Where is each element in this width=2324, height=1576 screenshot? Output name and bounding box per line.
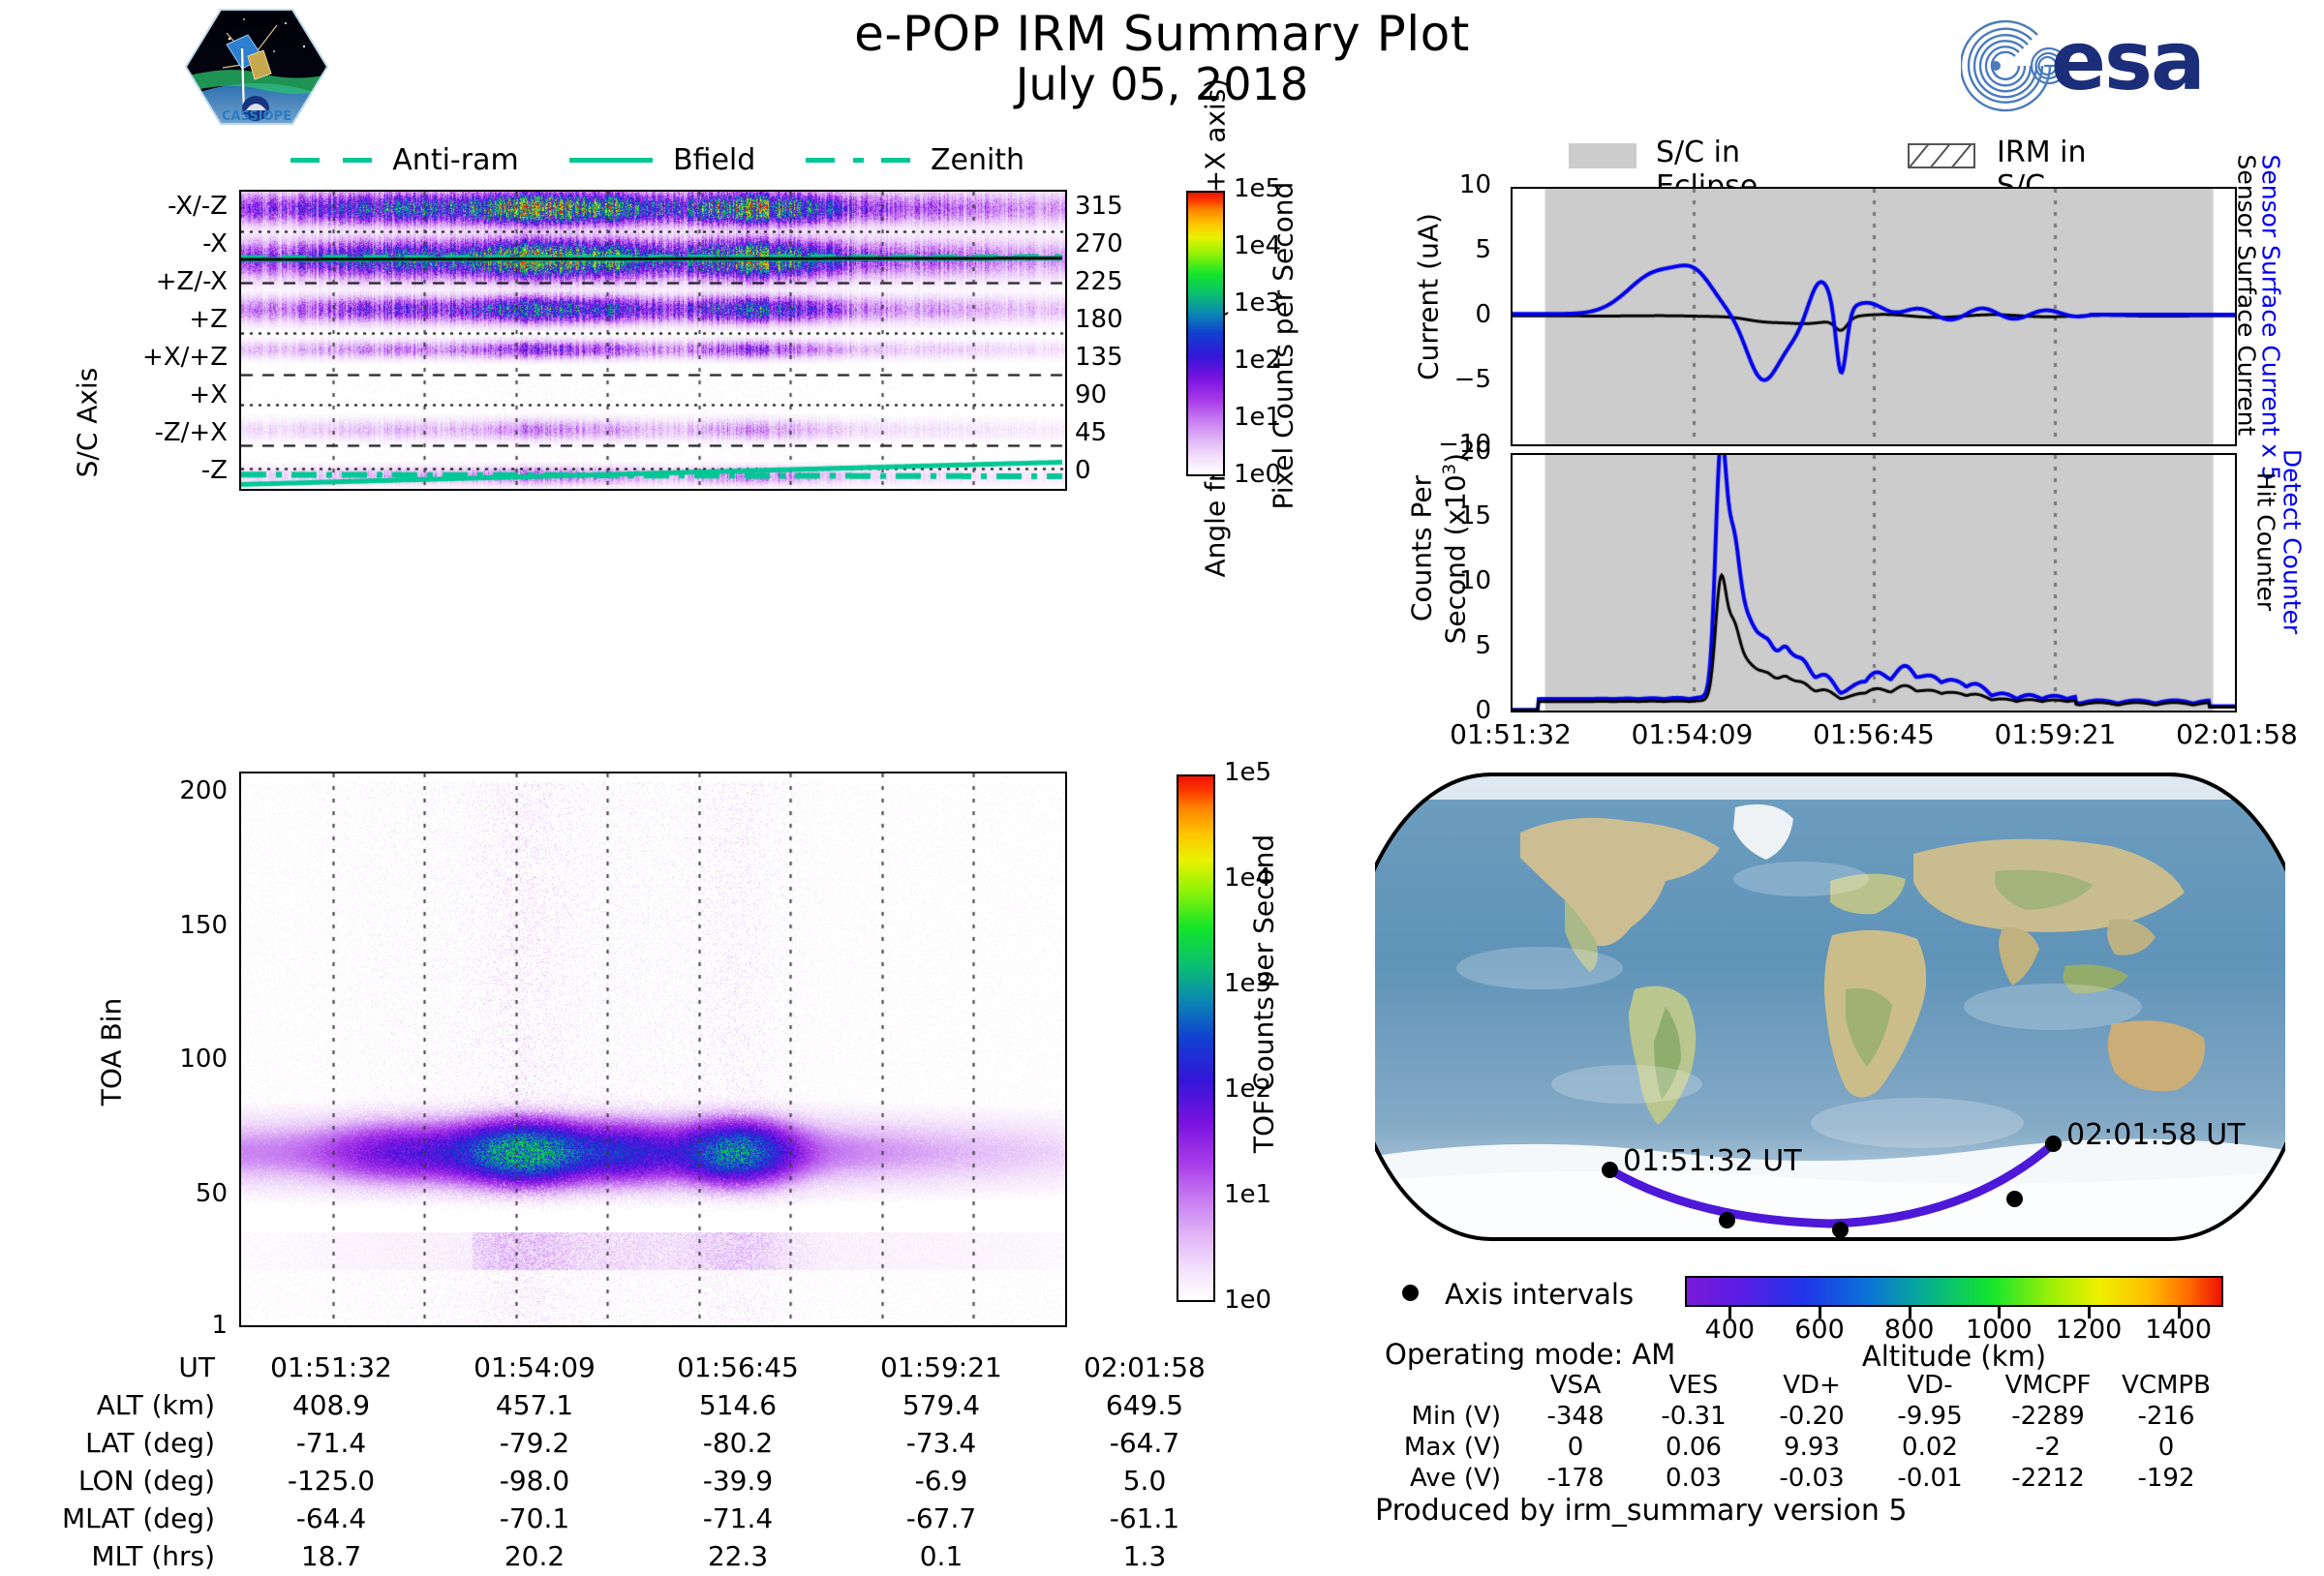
- sc-axis-ytick-1: -X: [58, 229, 228, 258]
- legend-bfield: Bfield: [569, 150, 761, 168]
- voltage-column-header: VSA: [1516, 1370, 1635, 1401]
- spectrogram-legend: Anti-ram Bfield Zenith: [290, 143, 1024, 177]
- sc-axis-ytick-6: -Z/+X: [58, 418, 228, 447]
- sc-axis-ytick-2: +Z/-X: [58, 267, 228, 296]
- tof-counts-colorbar: [1177, 774, 1215, 1302]
- voltage-cell: 0: [2107, 1432, 2225, 1463]
- ephemeris-cell: 1.3: [1044, 1538, 1245, 1574]
- orbit-point-end: [2045, 1136, 2062, 1152]
- ephemeris-row-label: MLT (hrs): [41, 1538, 229, 1574]
- esa-wordmark: esa: [2051, 14, 2204, 108]
- ephemeris-cell: -64.7: [1044, 1425, 1245, 1461]
- ephemeris-cell: 5.0: [1044, 1463, 1245, 1499]
- voltage-column-header: VD-: [1871, 1370, 1989, 1401]
- sc-axis-right-tick-3: 180: [1075, 305, 1143, 334]
- counts-plot: [1511, 453, 2237, 712]
- ephemeris-cell: 01:54:09: [434, 1349, 635, 1385]
- ephemeris-row-ut: UT01:51:3201:54:0901:56:4501:59:2102:01:…: [41, 1349, 1245, 1385]
- voltage-cell: -178: [1516, 1463, 1635, 1494]
- counts-xtick-4: 02:01:58: [2150, 718, 2324, 750]
- ephemeris-cell: 01:59:21: [841, 1349, 1042, 1385]
- tof-cb-tick-4: 1e1: [1224, 1180, 1330, 1209]
- orbit-world-map: 01:51:32 UT 02:01:58 UT: [1375, 765, 2285, 1249]
- voltage-row-label: Ave (V): [1394, 1463, 1516, 1494]
- current-ytick-1: 5: [1375, 235, 1491, 264]
- badge-label: CASSIOPE: [222, 109, 291, 124]
- ephemeris-cell: -67.7: [841, 1500, 1042, 1536]
- ephemeris-row-mlat: MLAT (deg)-64.4-70.1-71.4-67.7-61.1: [41, 1500, 1245, 1536]
- current-plot: [1511, 187, 2237, 446]
- voltage-column-header: VD+: [1753, 1370, 1871, 1401]
- voltage-column-header: VMCPF: [1989, 1370, 2107, 1401]
- voltage-cell: -216: [2107, 1401, 2225, 1432]
- voltage-cell: -2: [1989, 1432, 2107, 1463]
- bfield-line: [569, 158, 653, 163]
- orbit-point-2: [1832, 1222, 1849, 1238]
- sc-axis-spectrogram: [239, 190, 1067, 491]
- sc-axis-ytick-0: -X/-Z: [58, 192, 228, 221]
- sc-axis-ytick-4: +X/+Z: [58, 343, 228, 372]
- voltage-cell: -0.03: [1753, 1463, 1871, 1494]
- sc-axis-ytick-3: +Z: [58, 305, 228, 334]
- zenith-dot: [853, 158, 864, 163]
- ephemeris-cell: -39.9: [637, 1463, 839, 1499]
- orbit-start-label: 01:51:32 UT: [1623, 1144, 1802, 1178]
- sc-axis-right-tick-2: 225: [1075, 267, 1143, 296]
- voltage-row-label: Max (V): [1394, 1432, 1516, 1463]
- zenith-dash-2: [881, 158, 910, 163]
- orbit-point-3: [2006, 1191, 2023, 1207]
- current-right-label-blue: Sensor Surface Current x 5: [2257, 155, 2285, 436]
- voltage-cell: -0.31: [1635, 1401, 1753, 1432]
- anti-ram-dash-2: [343, 158, 372, 163]
- counts-right-label-blue: Detect Counter: [2278, 421, 2307, 663]
- ephemeris-cell: 01:56:45: [637, 1349, 839, 1385]
- voltage-row: Ave (V)-1780.03-0.03-0.01-2212-192: [1394, 1463, 2225, 1494]
- ephemeris-cell: 02:01:58: [1044, 1349, 1245, 1385]
- orbit-point-1: [1719, 1212, 1735, 1228]
- ephemeris-cell: -79.2: [434, 1425, 635, 1461]
- ephemeris-row-label: LAT (deg): [41, 1425, 229, 1461]
- toa-bin-ytick-2: 100: [77, 1045, 228, 1074]
- counts-ytick-3: 5: [1375, 631, 1491, 660]
- ephemeris-cell: 514.6: [637, 1387, 839, 1423]
- axis-intervals-dot: [1402, 1285, 1419, 1301]
- ephemeris-row-label: LON (deg): [41, 1463, 229, 1499]
- toa-bin-ytick-4: 1: [77, 1311, 228, 1340]
- ephemeris-cell: -64.4: [230, 1500, 432, 1536]
- sc-axis-ytick-5: +X: [58, 380, 228, 409]
- ephemeris-cell: -70.1: [434, 1500, 635, 1536]
- toa-bin-spectrogram: [239, 772, 1067, 1327]
- voltage-header-row: VSAVESVD+VD-VMCPFVCMPB: [1394, 1370, 2225, 1401]
- ephemeris-row-alt: ALT (km)408.9457.1514.6579.4649.5: [41, 1387, 1245, 1423]
- voltage-column-header: VCMPB: [2107, 1370, 2225, 1401]
- ephemeris-cell: 01:51:32: [230, 1349, 432, 1385]
- voltage-cell: 0: [1516, 1432, 1635, 1463]
- ephemeris-row-lat: LAT (deg)-71.4-79.2-80.2-73.4-64.7: [41, 1425, 1245, 1461]
- toa-bin-ytick-1: 150: [77, 911, 228, 940]
- altitude-colorbar-label: Altitude (km): [1685, 1340, 2223, 1373]
- operating-mode-label: Operating mode: AM: [1385, 1338, 1675, 1371]
- voltage-cell: -9.95: [1871, 1401, 1989, 1432]
- counts-ytick-1: 15: [1375, 501, 1491, 530]
- sc-axis-right-tick-1: 270: [1075, 229, 1143, 258]
- ephemeris-cell: -73.4: [841, 1425, 1042, 1461]
- counts-xtick-3: 01:59:21: [1969, 718, 2143, 750]
- ephemeris-cell: -61.1: [1044, 1500, 1245, 1536]
- ephemeris-cell: 0.1: [841, 1538, 1042, 1574]
- ephemeris-row-lon: LON (deg)-125.0-98.0-39.9-6.95.0: [41, 1463, 1245, 1499]
- voltage-cell: 9.93: [1753, 1432, 1871, 1463]
- current-ytick-3: −5: [1375, 365, 1491, 394]
- voltage-cell: -348: [1516, 1401, 1635, 1432]
- ephemeris-row-label: UT: [41, 1349, 229, 1385]
- counts-ytick-0: 20: [1375, 437, 1491, 466]
- axis-intervals-label: Axis intervals: [1445, 1278, 1634, 1311]
- ephemeris-cell: 20.2: [434, 1538, 635, 1574]
- pixel-counts-colorbar: [1186, 191, 1225, 476]
- sc-axis-right-tick-6: 45: [1075, 418, 1143, 447]
- voltage-cell: -0.20: [1753, 1401, 1871, 1432]
- voltage-column-header: VES: [1635, 1370, 1753, 1401]
- counts-xtick-1: 01:54:09: [1605, 718, 1780, 750]
- toa-bin-ytick-3: 50: [77, 1179, 228, 1208]
- ephemeris-cell: -71.4: [230, 1425, 432, 1461]
- sc-axis-right-tick-7: 0: [1075, 456, 1143, 485]
- voltage-cell: 0.06: [1635, 1432, 1753, 1463]
- produced-by-label: Produced by irm_summary version 5: [1375, 1494, 1907, 1528]
- counts-xtick-0: 01:51:32: [1423, 718, 1598, 750]
- current-right-label-black: Sensor Surface Current: [2233, 155, 2261, 436]
- ephemeris-cell: -71.4: [637, 1500, 839, 1536]
- anti-ram-dash-1: [290, 158, 320, 163]
- voltage-cell: -2212: [1989, 1463, 2107, 1494]
- voltage-summary-table: VSAVESVD+VD-VMCPFVCMPBMin (V)-348-0.31-0…: [1394, 1370, 2225, 1494]
- voltage-cell: -0.01: [1871, 1463, 1989, 1494]
- sc-axis-right-tick-0: 315: [1075, 192, 1143, 221]
- ephemeris-table: UT01:51:3201:54:0901:56:4501:59:2102:01:…: [39, 1348, 1247, 1576]
- sc-axis-ytick-7: -Z: [58, 456, 228, 485]
- current-ytick-0: 10: [1375, 170, 1491, 199]
- ephemeris-cell: 22.3: [637, 1538, 839, 1574]
- orbit-point-start: [1602, 1162, 1618, 1178]
- legend-anti-ram: Anti-ram: [290, 150, 524, 168]
- zenith-dash-1: [806, 158, 835, 163]
- ephemeris-cell: 649.5: [1044, 1387, 1245, 1423]
- voltage-corner: [1394, 1370, 1516, 1401]
- ephemeris-cell: -98.0: [434, 1463, 635, 1499]
- voltage-cell: 0.03: [1635, 1463, 1753, 1494]
- ephemeris-cell: 579.4: [841, 1387, 1042, 1423]
- current-ytick-2: 0: [1375, 300, 1491, 329]
- voltage-row-label: Min (V): [1394, 1401, 1516, 1432]
- ephemeris-cell: 18.7: [230, 1538, 432, 1574]
- voltage-cell: -2289: [1989, 1401, 2107, 1432]
- toa-bin-ytick-0: 200: [77, 776, 228, 805]
- eclipse-swatch: [1569, 143, 1636, 168]
- counts-right-label-black: Hit Counter: [2252, 421, 2280, 663]
- counts-ytick-2: 10: [1375, 566, 1491, 595]
- ephemeris-cell: -6.9: [841, 1463, 1042, 1499]
- shadow-swatch: [1908, 143, 1975, 168]
- ephemeris-cell: 457.1: [434, 1387, 635, 1423]
- ephemeris-row-label: MLAT (deg): [41, 1500, 229, 1536]
- tof-cb-tick-5: 1e0: [1224, 1286, 1330, 1315]
- counts-xtick-2: 01:56:45: [1787, 718, 1961, 750]
- pixel-counts-colorbar-label: Pixel Counts per Second: [1268, 191, 1300, 510]
- sc-axis-right-tick-4: 135: [1075, 343, 1143, 372]
- voltage-row: Max (V)00.069.930.02-20: [1394, 1432, 2225, 1463]
- ephemeris-cell: -125.0: [230, 1463, 432, 1499]
- voltage-cell: 0.02: [1871, 1432, 1989, 1463]
- voltage-cell: -192: [2107, 1463, 2225, 1494]
- cassiope-mission-badge: CASSIOPE: [184, 8, 329, 126]
- ephemeris-cell: 408.9: [230, 1387, 432, 1423]
- altitude-colorbar: [1685, 1276, 2223, 1307]
- tof-counts-colorbar-label: TOF Counts per Second: [1248, 834, 1280, 1154]
- legend-zenith: Zenith: [806, 150, 1024, 168]
- voltage-row: Min (V)-348-0.31-0.20-9.95-2289-216: [1394, 1401, 2225, 1432]
- orbit-end-label: 02:01:58 UT: [2066, 1118, 2246, 1152]
- ephemeris-row-label: ALT (km): [41, 1387, 229, 1423]
- tof-cb-tick-0: 1e5: [1224, 758, 1330, 787]
- sc-axis-right-tick-5: 90: [1075, 380, 1143, 409]
- ephemeris-cell: -80.2: [637, 1425, 839, 1461]
- ephemeris-row-mlt: MLT (hrs)18.720.222.30.11.3: [41, 1538, 1245, 1574]
